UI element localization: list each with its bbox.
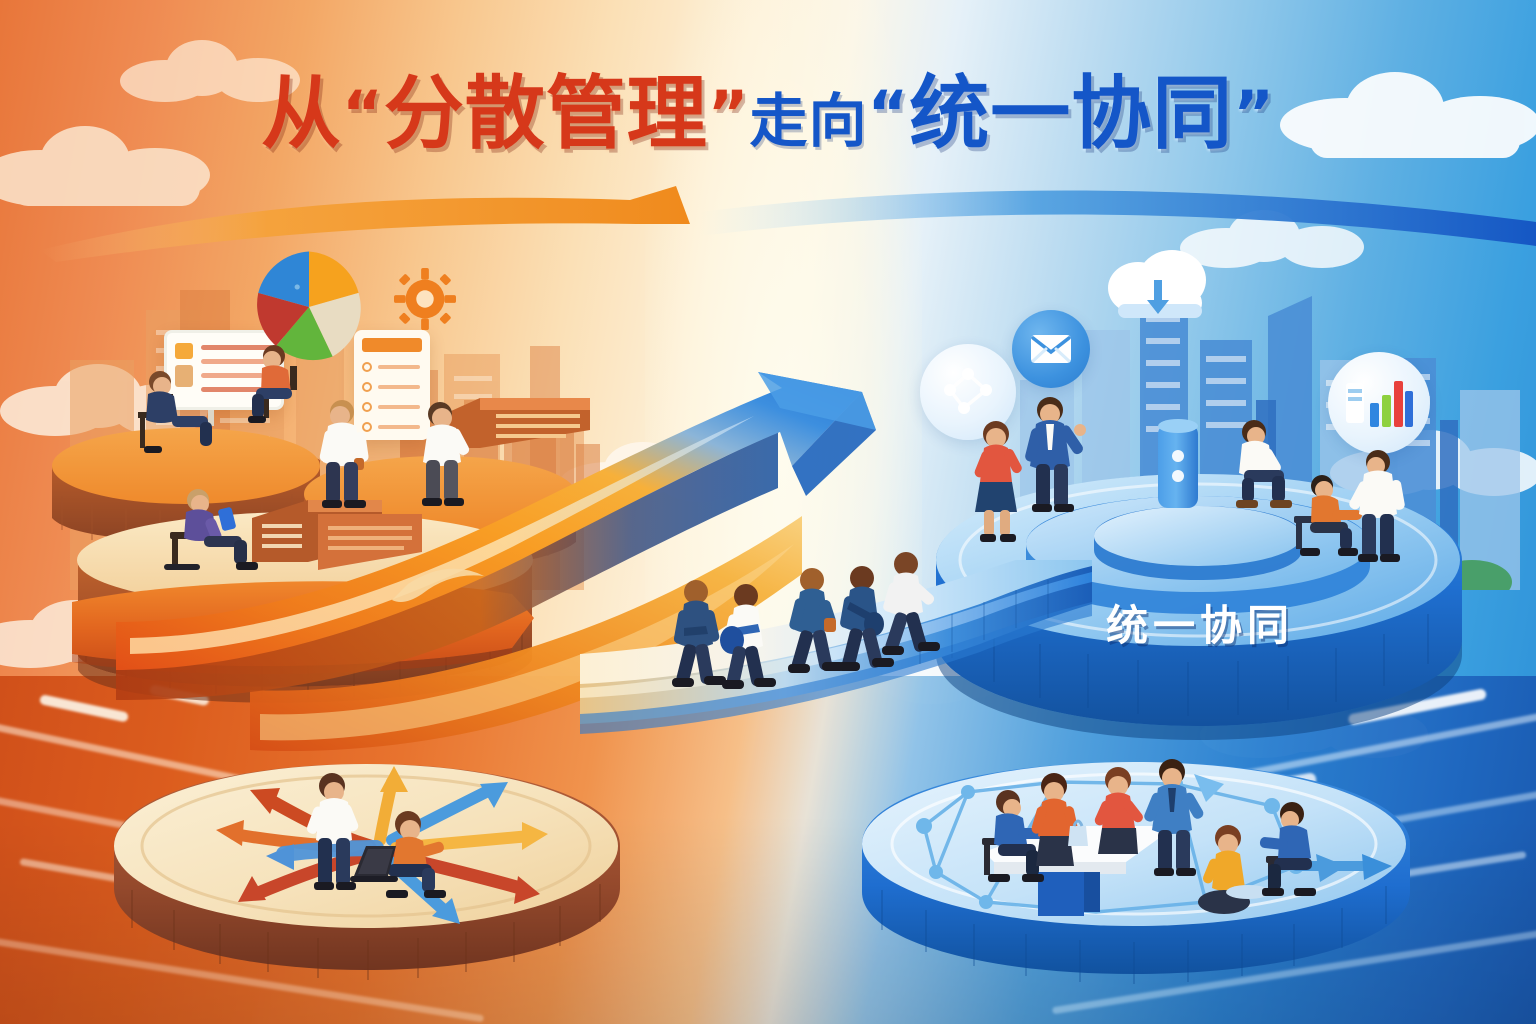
checklist-row-line bbox=[378, 365, 420, 369]
mail-icon bbox=[1029, 332, 1073, 366]
bag-icon-right-circle bbox=[1060, 812, 1096, 848]
title-segment-4: 走向 bbox=[749, 92, 867, 150]
worker-figure-man-suit-right bbox=[1010, 392, 1100, 532]
walker-5 bbox=[872, 548, 952, 668]
circle-right-figure-6 bbox=[1248, 794, 1348, 924]
doc-thumb bbox=[175, 343, 193, 359]
worker-figure-standing-white-right bbox=[1336, 444, 1426, 584]
page-title: 从“分散管理”走向“统一协同” bbox=[0, 74, 1536, 154]
title-segment-3: ” bbox=[708, 83, 750, 145]
checklist-header bbox=[362, 338, 422, 352]
title-segment-5: “ bbox=[868, 83, 910, 145]
cloud-upload-icon bbox=[1094, 244, 1224, 336]
title-segment-0: 从 bbox=[261, 74, 342, 154]
mail-bubble bbox=[1012, 310, 1090, 388]
poster-canvas: 从“分散管理”走向“统一协同” bbox=[0, 0, 1536, 1024]
platform-right-label-text: 统一协同 bbox=[1106, 592, 1294, 653]
bar-chart-bubble bbox=[1328, 352, 1430, 454]
gear-icon bbox=[394, 268, 456, 330]
title-segment-2: 分散管理 bbox=[384, 74, 708, 154]
bar-chart-icon bbox=[1344, 373, 1414, 433]
server-pillar-icon bbox=[1148, 414, 1208, 524]
laptop-icon-left-circle bbox=[348, 838, 408, 888]
title-segment-6: 统一协同 bbox=[909, 74, 1233, 154]
walker-2 bbox=[712, 580, 782, 700]
title-segment-1: “ bbox=[342, 83, 384, 145]
title-segment-7: ” bbox=[1233, 83, 1275, 145]
